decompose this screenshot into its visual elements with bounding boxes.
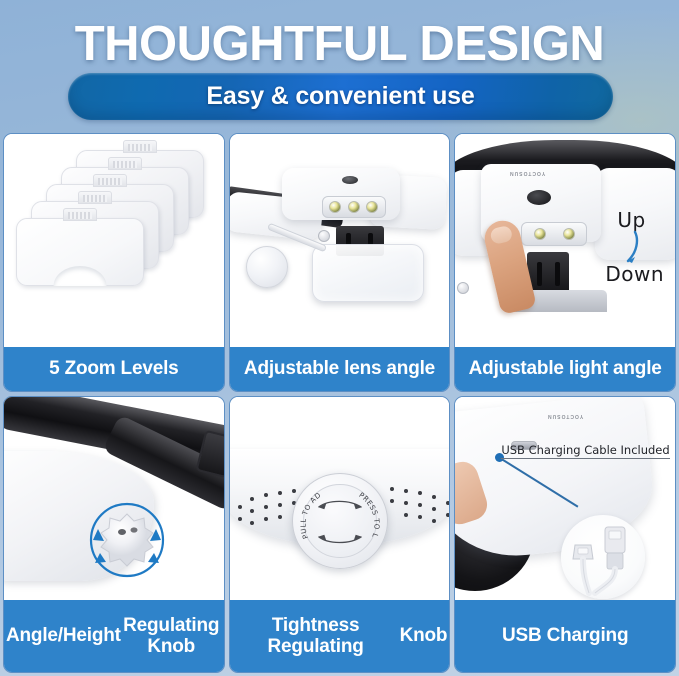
feature-grid: 5 Zoom Levels Adjusta	[3, 133, 676, 673]
annotation-up-label: Up	[617, 208, 645, 232]
knob-instruction-text: PULL TO ADJUST PRESS TO LOCK	[293, 474, 387, 568]
usb-cable-closeup	[561, 515, 645, 599]
feature-label-lens-angle: Adjustable lens angle	[230, 347, 450, 391]
feature-image-angle-height-knob	[4, 397, 224, 600]
subtitle-pill-label: Easy & convenient use	[206, 82, 474, 111]
pivot-screw	[457, 282, 469, 294]
feature-card-light-angle[interactable]: YOCTOSUN Up Down Adjustable light	[454, 133, 676, 392]
subtitle-pill: Easy & convenient use	[68, 73, 613, 120]
feature-image-usb-charging: YOCTOSUN USB Charging Cable Included	[455, 397, 675, 600]
brand-mark: YOCTOSUN	[509, 170, 545, 176]
feature-card-usb-charging[interactable]: YOCTOSUN USB Charging Cable Included	[454, 396, 676, 673]
led-1	[329, 201, 341, 213]
feature-label-line-1: Angle/Height	[6, 625, 121, 646]
feature-image-tightness-knob: PULL TO ADJUST PRESS TO LOCK	[230, 397, 450, 600]
led-2	[563, 228, 575, 240]
stacked-lens-plates-icon	[4, 134, 224, 347]
led-light-bar	[322, 196, 386, 218]
page-title: THOUGHTFUL DESIGN	[0, 16, 679, 72]
star-shaped-knob	[100, 513, 154, 567]
led-2	[348, 201, 360, 213]
loupe-lens	[246, 246, 288, 288]
feature-card-lens-angle[interactable]: Adjustable lens angle	[229, 133, 451, 392]
feature-image-lens-angle	[230, 134, 450, 347]
header-banner: THOUGHTFUL DESIGN Easy & convenient use	[0, 0, 679, 131]
annotation-usb-cable-included: USB Charging Cable Included	[501, 443, 669, 459]
feature-card-angle-height-knob[interactable]: Angle/Height Regulating Knob	[3, 396, 225, 673]
brand-mark: YOCTOSUN	[547, 413, 583, 419]
power-button	[342, 176, 358, 184]
pivot-screw	[318, 230, 330, 242]
led-1	[534, 228, 546, 240]
feature-label-line-1: Tightness Regulating	[232, 615, 400, 658]
usb-cable-icon: YOCTOSUN USB Charging Cable Included	[455, 397, 675, 600]
led-light-bar	[521, 222, 587, 246]
finger-pressing-led-icon: YOCTOSUN Up Down	[455, 134, 675, 347]
feature-image-zoom-levels	[4, 134, 224, 347]
annotation-down-label: Down	[605, 262, 664, 286]
feature-image-light-angle: YOCTOSUN Up Down	[455, 134, 675, 347]
feature-label-light-angle: Adjustable light angle	[455, 347, 675, 391]
feature-label-line-2: Regulating Knob	[121, 615, 222, 658]
feature-label-tightness-knob: Tightness Regulating Knob	[230, 600, 450, 672]
feature-label-usb-charging: USB Charging	[455, 600, 675, 672]
magnifier-lens-plate	[312, 244, 424, 302]
rotary-knob-icon: PULL TO ADJUST PRESS TO LOCK	[230, 397, 450, 600]
feature-card-zoom-levels[interactable]: 5 Zoom Levels	[3, 133, 225, 392]
rotation-arrow-icon	[617, 230, 643, 264]
feature-label-angle-height-knob: Angle/Height Regulating Knob	[4, 600, 224, 672]
vent-holes-right	[388, 487, 450, 539]
tightness-knob[interactable]: PULL TO ADJUST PRESS TO LOCK	[292, 473, 388, 569]
led-3	[366, 201, 378, 213]
feature-label-line-2: Knob	[400, 625, 448, 646]
feature-label-zoom-levels: 5 Zoom Levels	[4, 347, 224, 391]
star-knob-icon	[4, 397, 224, 600]
feature-card-tightness-knob[interactable]: PULL TO ADJUST PRESS TO LOCK	[229, 396, 451, 673]
headband-magnifier-icon	[230, 134, 450, 347]
